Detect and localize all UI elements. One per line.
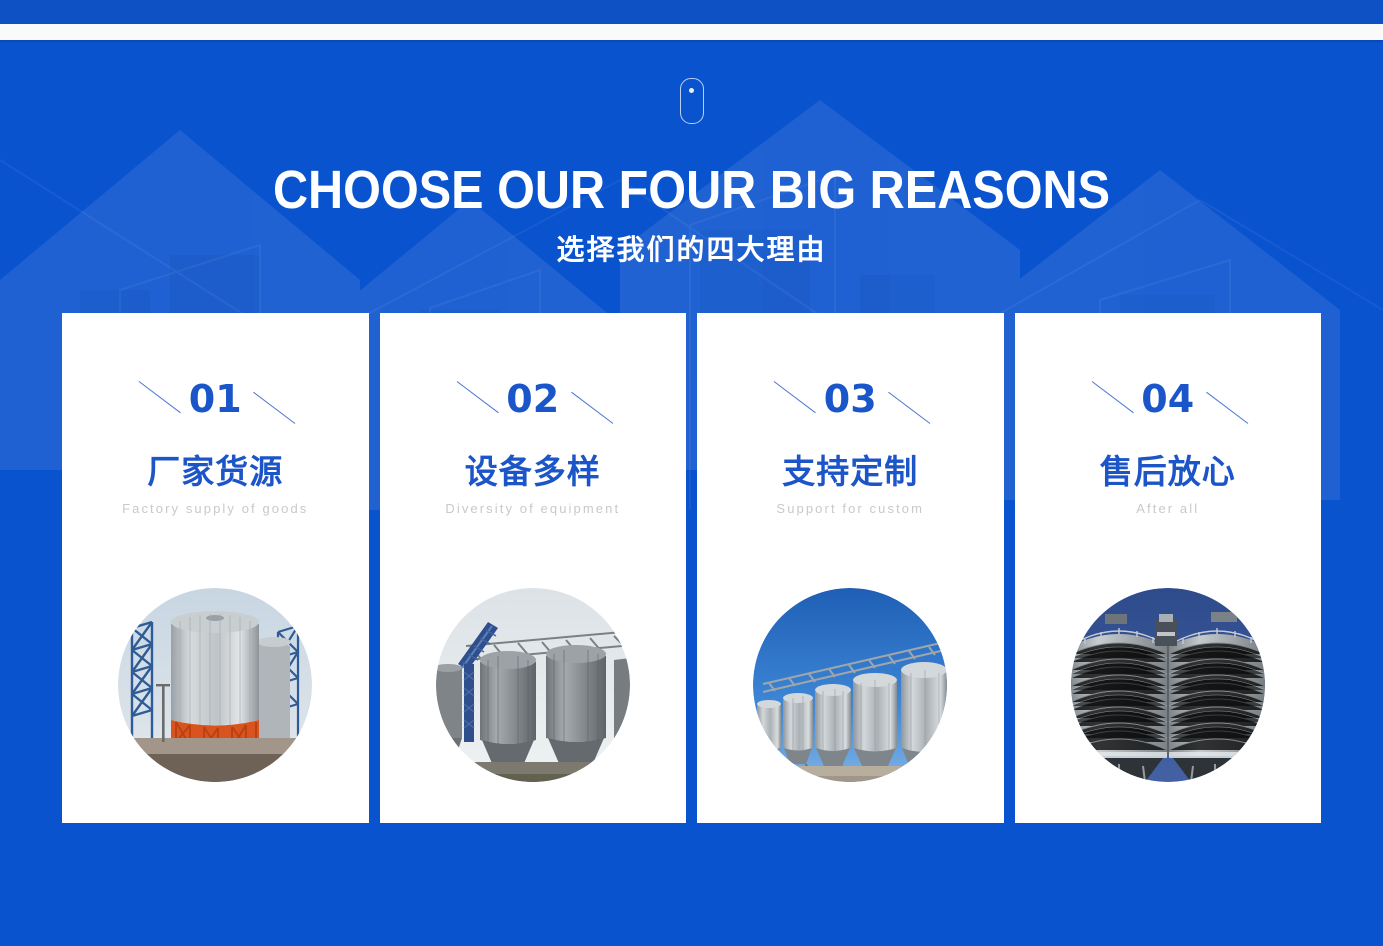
silo-with-orange-support-frame-photo xyxy=(118,588,312,782)
card-title-cn: 厂家货源 xyxy=(147,453,283,491)
corrugated-silos-closeup-photo xyxy=(1071,588,1265,782)
top-band xyxy=(0,0,1383,24)
card-title-cn: 支持定制 xyxy=(782,453,918,491)
card-number: 03 xyxy=(824,380,877,418)
diagonal-slash-icon xyxy=(253,392,295,424)
card-title-en: Diversity of equipment xyxy=(445,500,620,518)
diagonal-slash-icon xyxy=(774,381,816,413)
reason-card[interactable]: 02 设备多样 Diversity of equipment xyxy=(380,313,687,823)
reason-card[interactable]: 03 支持定制 Support for custom xyxy=(697,313,1004,823)
card-number: 01 xyxy=(189,380,242,418)
card-title-cn: 售后放心 xyxy=(1100,453,1236,491)
card-title-en: Support for custom xyxy=(776,500,924,518)
card-title-cn: 设备多样 xyxy=(465,453,601,491)
diagonal-slash-icon xyxy=(1206,392,1248,424)
promo-page: CHOOSE OUR FOUR BIG REASONS 选择我们的四大理由 01… xyxy=(0,0,1383,946)
card-number: 04 xyxy=(1141,380,1194,418)
card-number-badge: 03 xyxy=(770,371,930,427)
card-number-badge: 04 xyxy=(1088,371,1248,427)
page-header: CHOOSE OUR FOUR BIG REASONS 选择我们的四大理由 xyxy=(0,78,1383,266)
scroll-mouse-icon xyxy=(680,78,704,124)
card-number: 02 xyxy=(506,380,559,418)
card-title-en: After all xyxy=(1136,500,1199,518)
silo-row-blue-sky-photo xyxy=(753,588,947,782)
reason-card[interactable]: 04 售后放心 After all xyxy=(1015,313,1322,823)
reason-card[interactable]: 01 厂家货源 Factory supply of goods xyxy=(62,313,369,823)
diagonal-slash-icon xyxy=(1091,381,1133,413)
diagonal-slash-icon xyxy=(888,392,930,424)
page-title: CHOOSE OUR FOUR BIG REASONS xyxy=(69,162,1314,218)
multiple-grain-silos-photo xyxy=(436,588,630,782)
page-subtitle: 选择我们的四大理由 xyxy=(0,234,1383,266)
top-white-strip xyxy=(0,24,1383,40)
diagonal-slash-icon xyxy=(571,392,613,424)
diagonal-slash-icon xyxy=(456,381,498,413)
card-title-en: Factory supply of goods xyxy=(122,500,308,518)
diagonal-slash-icon xyxy=(139,381,181,413)
top-hairline-divider xyxy=(0,40,1383,42)
reason-cards-row: 01 厂家货源 Factory supply of goods xyxy=(62,313,1321,823)
card-number-badge: 02 xyxy=(453,371,613,427)
card-number-badge: 01 xyxy=(135,371,295,427)
